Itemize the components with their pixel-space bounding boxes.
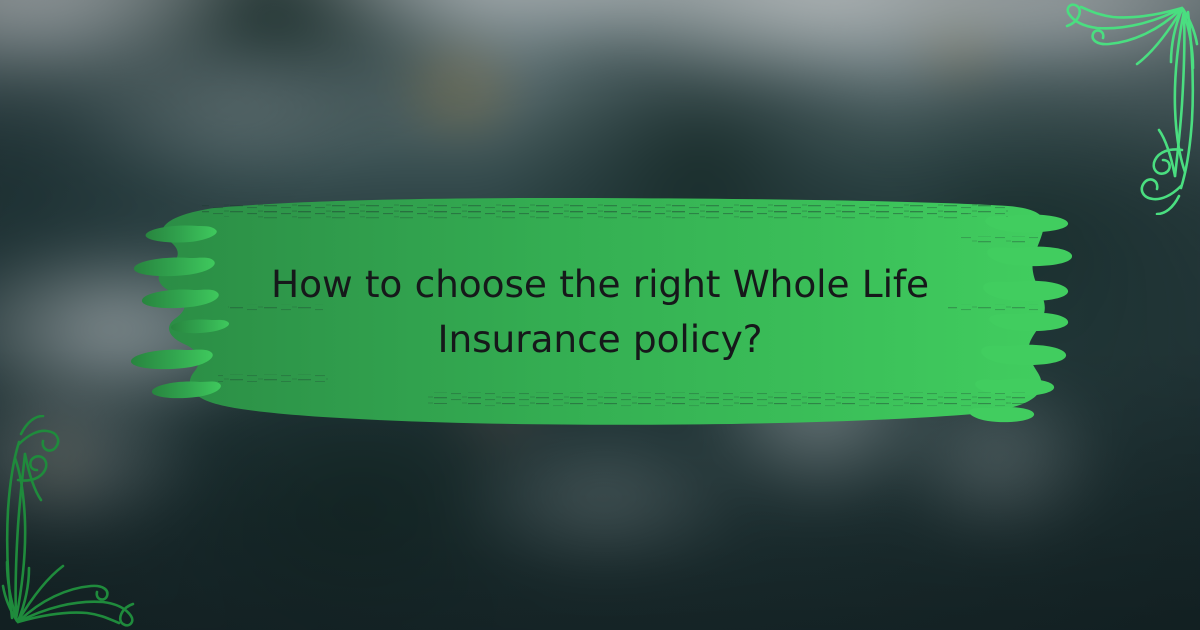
brush-stroke-banner: How to choose the right Whole Life Insur… xyxy=(128,186,1072,444)
title-block: How to choose the right Whole Life Insur… xyxy=(128,186,1072,444)
title-card: How to choose the right Whole Life Insur… xyxy=(0,0,1200,630)
page-title: How to choose the right Whole Life Insur… xyxy=(206,257,994,367)
